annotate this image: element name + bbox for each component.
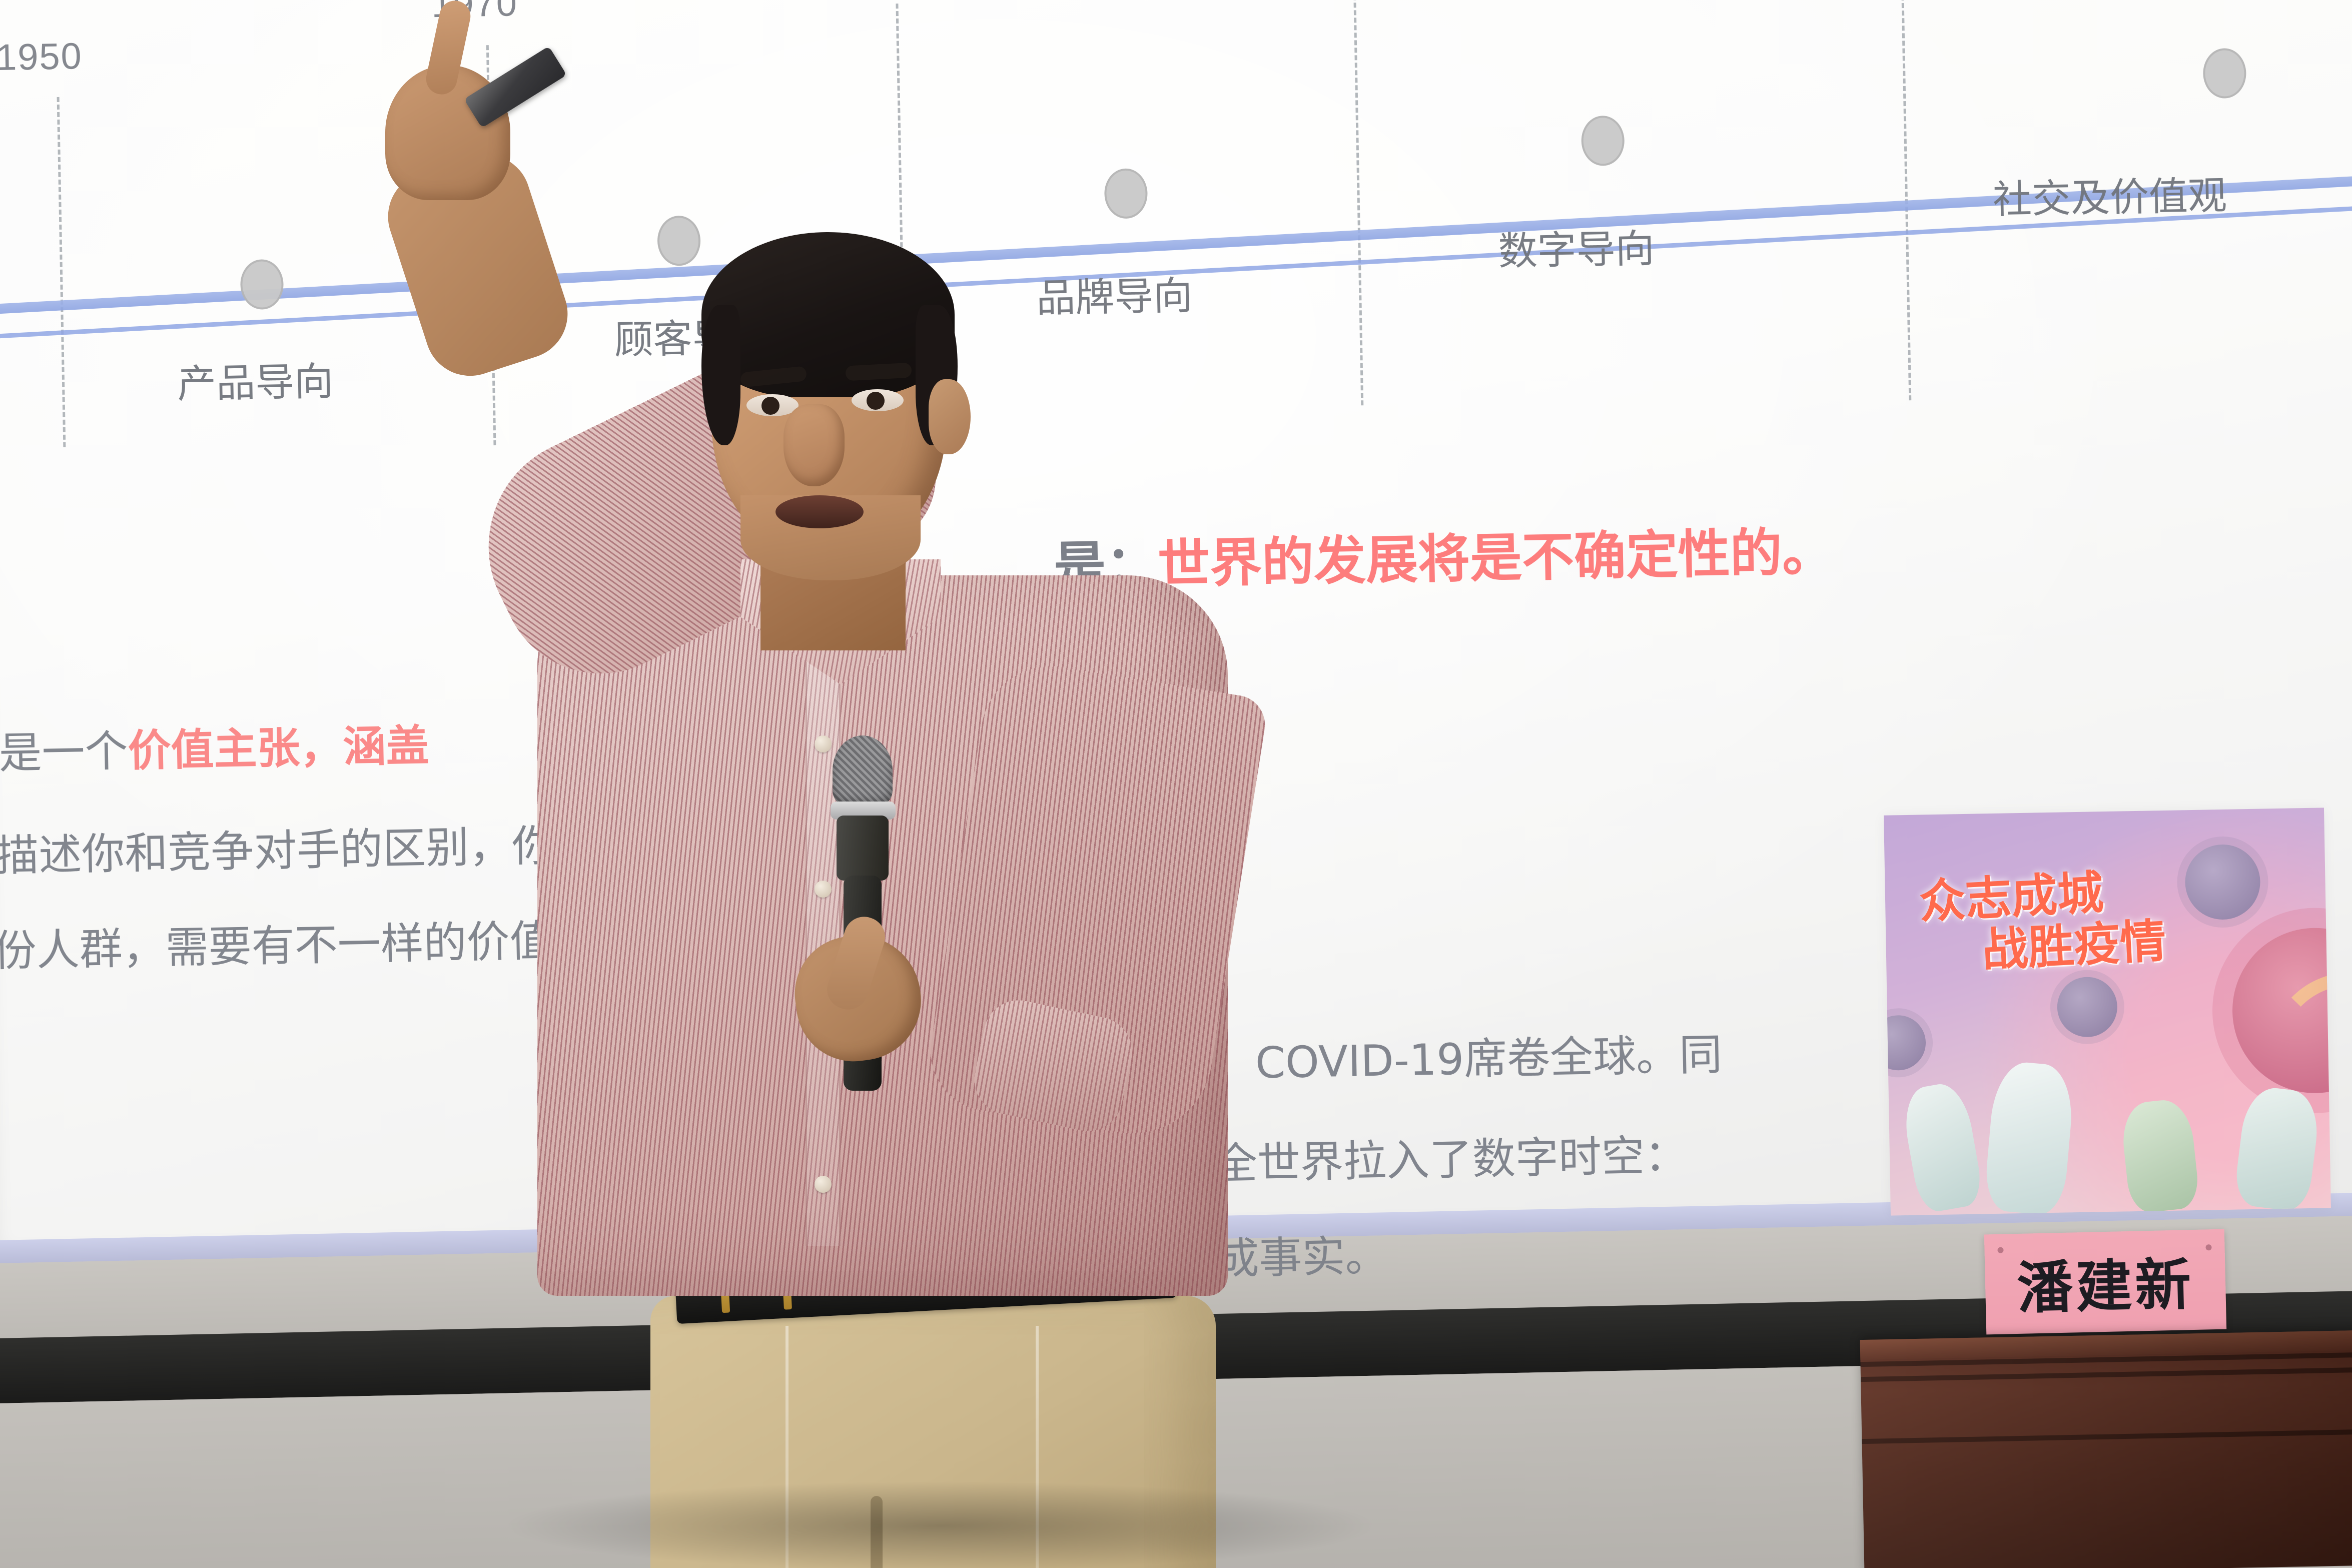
nameplate-screw-right [2205, 1244, 2211, 1250]
stage-label-social-values: 社交及价值观 [1992, 165, 2227, 225]
poster-title: 众志成城 战胜疫情 [1918, 860, 2243, 979]
medical-worker-3 [2119, 1097, 2200, 1214]
microphone-grip [837, 816, 889, 881]
speaker-name: 潘建新 [2016, 1239, 2195, 1324]
timeline-year-1950: 1950 [0, 35, 83, 79]
medical-worker-1 [1899, 1080, 1985, 1214]
speaker-figure [525, 235, 1386, 1568]
microphone-head [833, 735, 893, 806]
speaker-nameplate: 潘建新 [1984, 1229, 2226, 1335]
nameplate-screw-left [1997, 1247, 2003, 1253]
medical-worker-2 [1983, 1060, 2076, 1215]
stage-label-digital: 数字导向 [1498, 217, 1655, 276]
left-line1-prefix: 是一个 [0, 726, 128, 779]
medical-worker-4 [2233, 1085, 2322, 1213]
timeline-marker-1 [240, 259, 284, 310]
floor-shadow [500, 1481, 1381, 1568]
left-line1-highlight: 价值主张，涵盖 [128, 721, 430, 776]
ear [929, 379, 971, 454]
timeline-marker-5 [2203, 48, 2247, 99]
timeline-divider-1 [57, 97, 66, 447]
mouth [775, 495, 864, 528]
shirt-button-1 [815, 735, 832, 752]
virus-particle-3 [1884, 1015, 1926, 1071]
timeline-marker-3 [1104, 168, 1148, 219]
eye-right [852, 389, 904, 411]
nose [783, 404, 845, 486]
shirt-button-2 [815, 881, 832, 898]
podium-shading [1860, 1330, 2352, 1568]
screenshot-root: 1950 1970 产品导向 顾客导向 品牌导向 数字导向 社交及价值观 是：世… [0, 0, 2352, 1568]
wooden-podium [1860, 1330, 2352, 1568]
virus-particle-2 [2057, 977, 2118, 1038]
covid-awareness-poster: 众志成城 战胜疫情 [1884, 808, 2331, 1215]
shirt-button-4 [815, 1176, 832, 1193]
stage-label-product: 产品导向 [177, 350, 334, 409]
slide-left-line-1: 是一个价值主张，涵盖 [0, 710, 429, 781]
timeline-marker-4 [1581, 116, 1625, 167]
